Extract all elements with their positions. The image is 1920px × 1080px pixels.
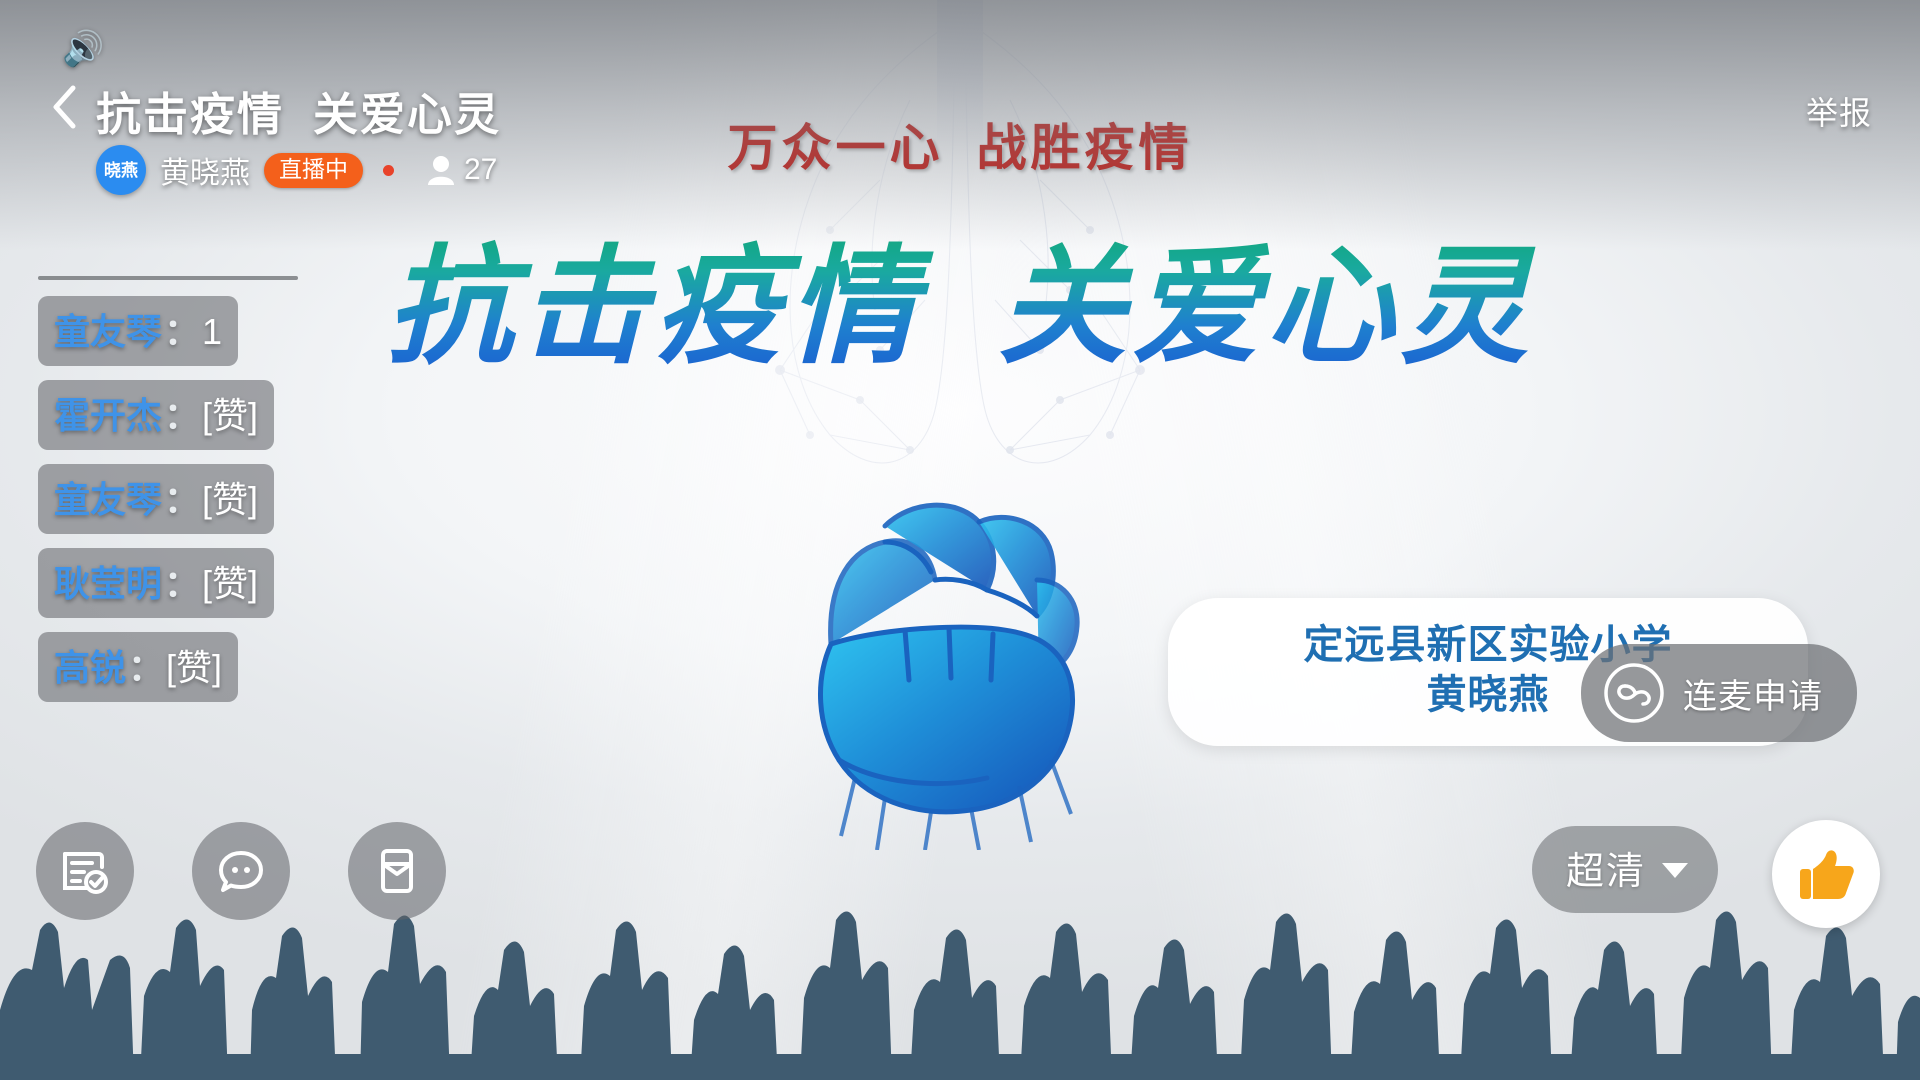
chat-sender: 童友琴 xyxy=(54,311,162,352)
quality-label: 超清 xyxy=(1566,840,1646,895)
chat-sender: 霍开杰 xyxy=(54,395,162,436)
status-badge: 直播中 xyxy=(264,153,363,188)
quality-selector[interactable]: 超清 xyxy=(1532,826,1718,913)
thumbs-up-icon xyxy=(1795,843,1857,905)
quiz-checklist-icon xyxy=(60,846,110,896)
chat-separator: ： xyxy=(126,647,166,688)
page-title: 抗击疫情 关爱心灵 xyxy=(96,78,501,143)
chat-sender: 童友琴 xyxy=(54,479,162,520)
link-mic-request-button[interactable]: 连麦申请 xyxy=(1581,644,1857,742)
person-icon xyxy=(428,155,454,185)
chat-divider xyxy=(38,276,298,280)
list-item[interactable]: 耿莹明：[赞] xyxy=(38,548,274,618)
list-item[interactable]: 高锐：[赞] xyxy=(38,632,238,702)
host-info-row: 晓燕 黄晓燕 直播中 27 xyxy=(96,145,497,195)
chat-sender: 耿莹明 xyxy=(54,563,162,604)
back-chevron-icon xyxy=(49,84,79,130)
gift-button[interactable] xyxy=(348,822,446,920)
back-button[interactable] xyxy=(40,78,88,136)
chat-message-list[interactable]: 童友琴：1 霍开杰：[赞] 童友琴：[赞] 耿莹明：[赞] 高锐：[赞] xyxy=(38,276,508,716)
raised-fist-icon xyxy=(735,430,1135,850)
speaker-on-icon: 🔊 xyxy=(62,32,104,66)
chat-text: 1 xyxy=(202,311,222,352)
comment-bubble-icon xyxy=(216,846,266,896)
live-stream-screen: 万众一心 战胜疫情 抗击疫情 关爱心灵 xyxy=(0,0,1920,1080)
list-item[interactable]: 童友琴：1 xyxy=(38,296,238,366)
viewer-count-group: 27 xyxy=(428,153,497,187)
link-mic-label: 连麦申请 xyxy=(1683,669,1823,718)
list-item[interactable]: 霍开杰：[赞] xyxy=(38,380,274,450)
avatar[interactable]: 晓燕 xyxy=(96,145,146,195)
viewer-count: 27 xyxy=(464,153,497,187)
chat-text: [赞] xyxy=(202,479,258,520)
list-item[interactable]: 童友琴：[赞] xyxy=(38,464,274,534)
chat-text: [赞] xyxy=(166,647,222,688)
link-mic-icon xyxy=(1603,662,1665,724)
chat-button[interactable] xyxy=(192,822,290,920)
chat-separator: ： xyxy=(162,311,202,352)
quiz-button[interactable] xyxy=(36,822,134,920)
host-name: 黄晓燕 xyxy=(160,148,250,192)
chat-separator: ： xyxy=(162,395,202,436)
chat-separator: ： xyxy=(162,563,202,604)
chat-sender: 高锐 xyxy=(54,647,126,688)
report-button[interactable]: 举报 xyxy=(1806,88,1872,134)
live-dot-icon xyxy=(383,165,394,176)
gift-card-icon xyxy=(372,846,422,896)
chevron-down-icon xyxy=(1662,863,1688,878)
like-button[interactable] xyxy=(1772,820,1880,928)
chat-separator: ： xyxy=(162,479,202,520)
chat-text: [赞] xyxy=(202,563,258,604)
chat-text: [赞] xyxy=(202,395,258,436)
